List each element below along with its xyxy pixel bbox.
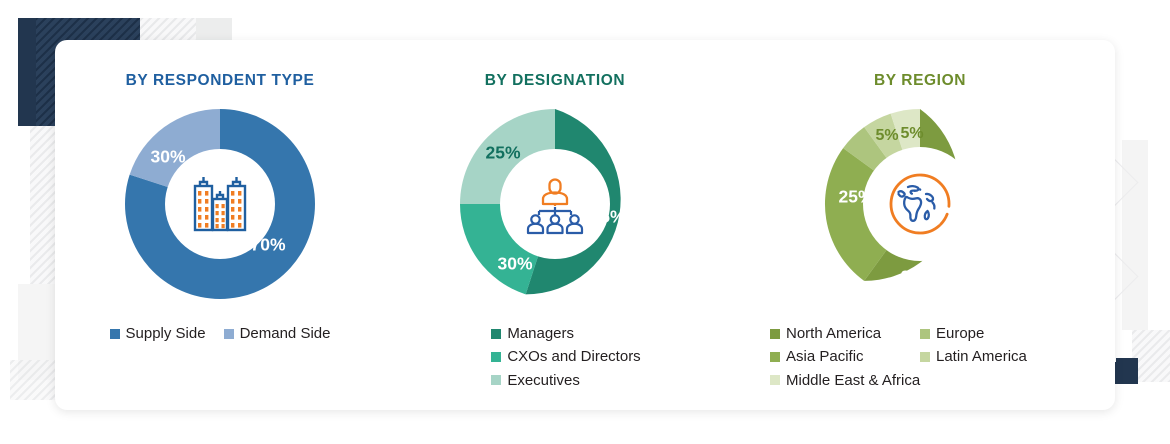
content-card: BY RESPONDENT TYPE 70% 30% bbox=[55, 40, 1115, 410]
legend-item[interactable]: North America bbox=[770, 322, 920, 345]
panel-title-region: BY REGION bbox=[874, 72, 966, 90]
legend-item[interactable]: Executives bbox=[491, 369, 580, 392]
panel-region: BY REGION 40% bbox=[725, 40, 1115, 410]
panel-title-respondent-type: BY RESPONDENT TYPE bbox=[126, 72, 315, 90]
legend-swatch-icon bbox=[770, 352, 780, 362]
hub-respondent-type bbox=[168, 152, 272, 256]
legend-label: Managers bbox=[507, 322, 574, 345]
decor-navy-bar-right bbox=[1116, 358, 1138, 384]
legend-swatch-icon bbox=[920, 352, 930, 362]
legend-item[interactable]: Supply Side bbox=[110, 322, 206, 345]
legend-item[interactable]: Managers bbox=[491, 322, 574, 345]
legend-designation: Managers CXOs and Directors Executives bbox=[491, 322, 640, 392]
legend-item[interactable]: Europe bbox=[920, 322, 1070, 345]
legend-swatch-icon bbox=[491, 375, 501, 385]
donut-chart-designation: 45% 30% 25% bbox=[455, 104, 655, 304]
slice-label-demand-side: 30% bbox=[150, 147, 185, 167]
legend-swatch-icon bbox=[110, 329, 120, 339]
legend-label: Supply Side bbox=[126, 322, 206, 345]
legend-label: CXOs and Directors bbox=[507, 345, 640, 368]
legend-label: Middle East & Africa bbox=[786, 369, 920, 392]
legend-item[interactable]: Asia Pacific bbox=[770, 345, 920, 368]
legend-label: Europe bbox=[936, 322, 984, 345]
slice-label-asia-pacific: 25% bbox=[900, 267, 935, 287]
legend-swatch-icon bbox=[920, 329, 930, 339]
decor-navy-bar-top-left bbox=[18, 18, 36, 126]
legend-item[interactable]: CXOs and Directors bbox=[491, 345, 640, 368]
legend-item[interactable]: Middle East & Africa bbox=[770, 369, 920, 392]
legend-swatch-icon bbox=[770, 375, 780, 385]
panel-respondent-type: BY RESPONDENT TYPE 70% 30% bbox=[55, 40, 385, 410]
legend-swatch-icon bbox=[491, 329, 501, 339]
hub-designation bbox=[503, 152, 607, 256]
globe-icon bbox=[884, 168, 956, 240]
legend-label: Demand Side bbox=[240, 322, 331, 345]
org-chart-people-icon bbox=[523, 174, 587, 234]
donut-chart-respondent-type: 70% 30% bbox=[120, 104, 320, 304]
legend-region: North America Europe Asia Pacific Latin … bbox=[770, 322, 1070, 392]
decor-hatch-bottom-left2 bbox=[10, 360, 60, 400]
slice-label-executives: 25% bbox=[485, 143, 520, 163]
infographic-canvas: BY RESPONDENT TYPE 70% 30% bbox=[0, 0, 1170, 444]
office-buildings-icon bbox=[187, 173, 253, 235]
hub-region bbox=[866, 150, 974, 258]
donut-chart-region: 40% 25% 25% 5% 5% bbox=[820, 104, 1020, 304]
legend-label: Latin America bbox=[936, 345, 1027, 368]
legend-label: North America bbox=[786, 322, 881, 345]
legend-label: Executives bbox=[507, 369, 580, 392]
slice-label-latin-america: 5% bbox=[875, 127, 898, 144]
legend-item[interactable]: Latin America bbox=[920, 345, 1070, 368]
legend-swatch-icon bbox=[491, 352, 501, 362]
decor-block-right bbox=[1122, 140, 1148, 330]
legend-label: Asia Pacific bbox=[786, 345, 864, 368]
slice-label-middle-east-africa: 5% bbox=[900, 125, 923, 142]
slice-label-cxos-and-directors: 30% bbox=[497, 254, 532, 274]
decor-hatch-left-lower bbox=[30, 124, 58, 284]
legend-item[interactable]: Demand Side bbox=[224, 322, 331, 345]
legend-respondent-type: Supply Side Demand Side bbox=[110, 322, 331, 345]
panel-designation: BY DESIGNATION 45% 30% 25% bbox=[385, 40, 725, 410]
panel-title-designation: BY DESIGNATION bbox=[485, 72, 625, 90]
legend-swatch-icon bbox=[770, 329, 780, 339]
legend-swatch-icon bbox=[224, 329, 234, 339]
